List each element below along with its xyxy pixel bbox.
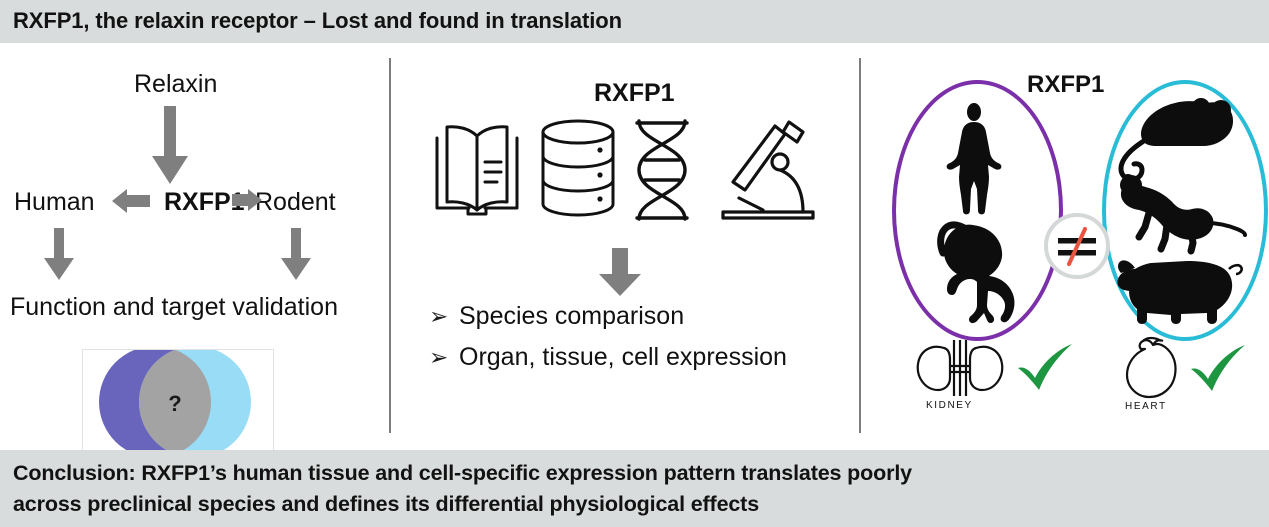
human-label: Human [14, 188, 95, 217]
venn-svg: ? [83, 350, 271, 451]
left-panel: Relaxin Human RXFP1 Rodent Function and … [0, 43, 389, 450]
middle-panel: RXFP1 [389, 43, 859, 450]
relaxin-label: Relaxin [134, 70, 217, 99]
list-item-label: Organ, tissue, cell expression [459, 342, 787, 373]
rxfp1-to-human-arrow [112, 189, 150, 213]
rxfp1-label-middle: RXFP1 [594, 79, 675, 108]
human-to-outcome-arrow [44, 228, 74, 280]
function-validation-label: Function and target validation [10, 293, 338, 322]
list-item: ➢ Organ, tissue, cell expression [429, 342, 849, 373]
conclusion-line-1: Conclusion: RXFP1’s human tissue and cel… [13, 458, 1253, 489]
rodent-to-outcome-arrow [281, 228, 311, 280]
conclusion-text: Conclusion: RXFP1’s human tissue and cel… [13, 458, 1253, 520]
monkey-silhouette [931, 221, 1023, 325]
evidence-to-outputs-arrow [599, 248, 641, 296]
human-silhouette [946, 103, 1002, 215]
evidence-icon-row [429, 118, 829, 233]
heart-check-icon [1187, 343, 1249, 395]
bullet-arrow-icon: ➢ [429, 342, 459, 373]
bullet-arrow-icon: ➢ [429, 301, 459, 332]
venn-diagram: ? [82, 349, 274, 454]
right-panel: RXFP1 [859, 43, 1269, 450]
database-icon [537, 118, 619, 218]
list-item-label: Species comparison [459, 301, 684, 332]
relaxin-to-rxfp1-arrow [152, 106, 188, 184]
heart-group: HEART [1121, 335, 1183, 406]
list-item: ➢ Species comparison [429, 301, 849, 332]
dna-helix-icon [631, 118, 693, 224]
rxfp1-label-right: RXFP1 [1027, 71, 1104, 99]
kidney-icon [914, 338, 1010, 400]
page-title: RXFP1, the relaxin receptor – Lost and f… [13, 8, 622, 34]
pig-silhouette [1115, 255, 1245, 327]
conclusion-line-2: across preclinical species and defines i… [13, 489, 1253, 520]
not-equal-slash [1069, 229, 1085, 264]
kidney-group: KIDNEY [914, 338, 1010, 405]
outputs-list: ➢ Species comparison ➢ Organ, tissue, ce… [429, 301, 849, 383]
venn-question-mark: ? [168, 391, 181, 416]
heart-icon [1121, 335, 1183, 401]
kidney-label: KIDNEY [926, 400, 973, 411]
microscope-icon [717, 118, 817, 222]
not-equal-icon [1048, 217, 1106, 275]
book-icon [429, 118, 525, 218]
not-equal-badge [1044, 213, 1110, 279]
kidney-check-icon [1014, 342, 1076, 394]
rxfp1-to-rodent-arrow [232, 189, 262, 211]
graphical-abstract: RXFP1, the relaxin receptor – Lost and f… [0, 0, 1269, 527]
rodent-label: Rodent [255, 188, 336, 217]
mouse-silhouette [1117, 95, 1239, 181]
rat-silhouette [1111, 171, 1247, 263]
heart-label: HEART [1125, 401, 1167, 412]
